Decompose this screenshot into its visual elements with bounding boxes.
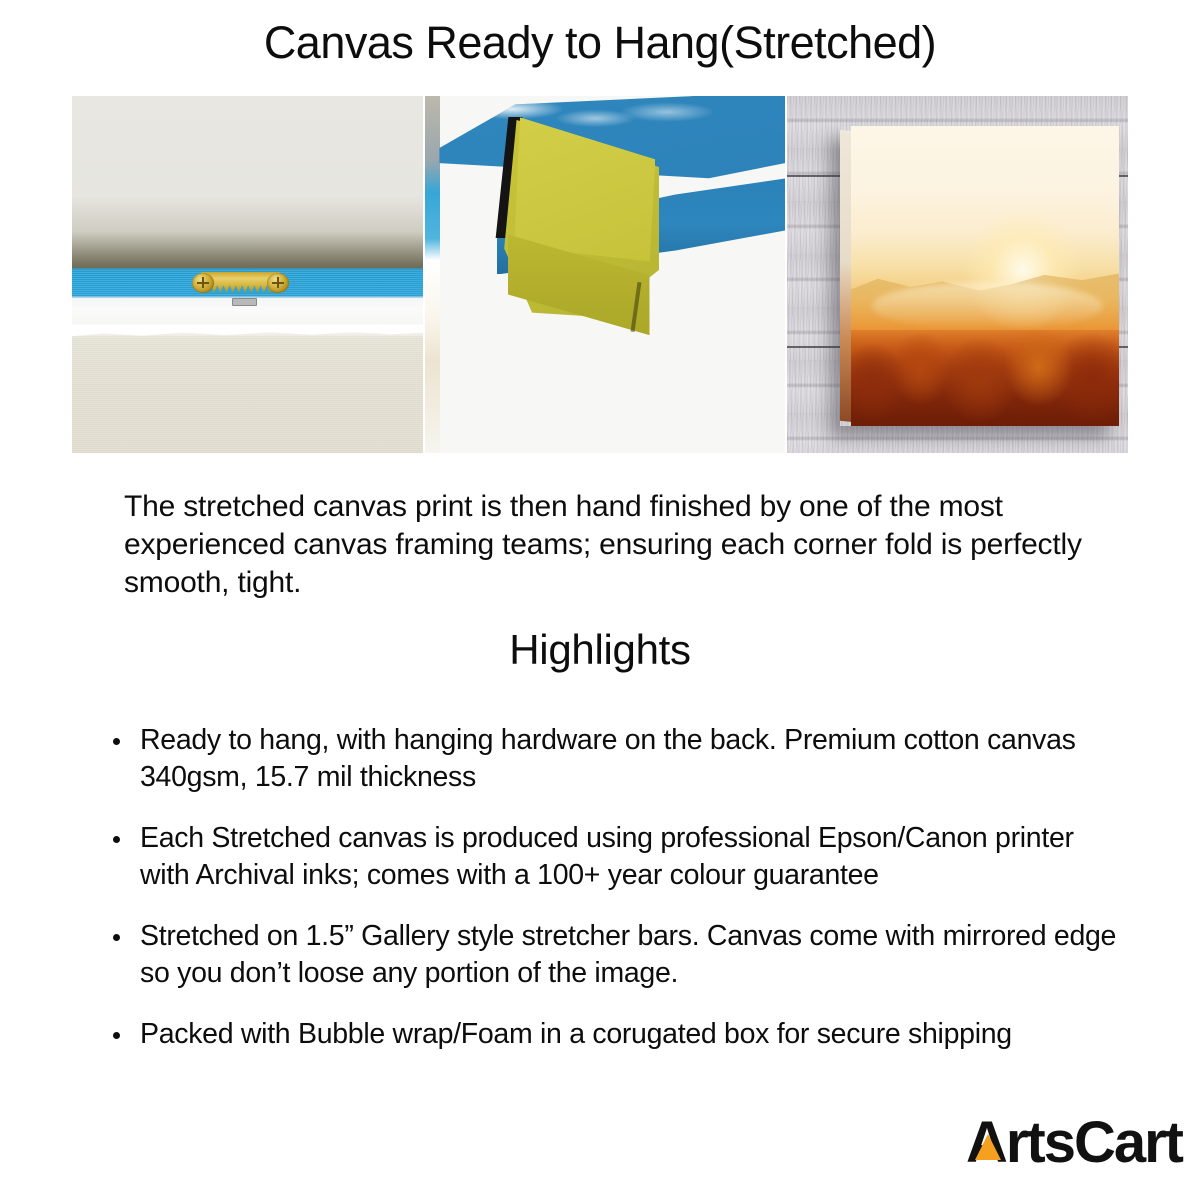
adjacent-image-sliver: [425, 96, 440, 453]
list-item-text: Each Stretched canvas is produced using …: [140, 822, 1074, 891]
landscape-foliage: [851, 330, 1119, 426]
triangle-icon: [975, 1134, 1001, 1160]
landscape-mist: [872, 282, 1103, 330]
bullet-dot-icon: [113, 836, 120, 843]
list-item: Ready to hang, with hanging hardware on …: [108, 722, 1118, 796]
metal-clip-icon: [232, 298, 257, 306]
sawtooth-hanger-hardware: [190, 270, 292, 297]
canvas-print-sunset-landscape: [851, 126, 1119, 426]
canvas-weave-texture: [72, 335, 423, 453]
product-image-gallery: [72, 96, 1128, 453]
highlights-list: Ready to hang, with hanging hardware on …: [108, 722, 1118, 1053]
hanger-screw-right-icon: [267, 273, 289, 293]
hanging-stretched-canvas: [840, 126, 1120, 426]
highlights-heading: Highlights: [0, 624, 1200, 676]
hanger-screw-left-icon: [192, 273, 214, 293]
gallery-image-canvas-back-hanging-hardware: [72, 96, 423, 453]
list-item-text: Ready to hang, with hanging hardware on …: [140, 724, 1076, 793]
list-item: Each Stretched canvas is produced using …: [108, 820, 1118, 894]
list-item-text: Packed with Bubble wrap/Foam in a coruga…: [140, 1018, 1012, 1050]
page-title: Canvas Ready to Hang(Stretched): [0, 16, 1200, 70]
bullet-dot-icon: [113, 738, 120, 745]
canvas-wrapped-side-edge: [840, 129, 852, 421]
list-item: Stretched on 1.5” Gallery style stretche…: [108, 918, 1118, 992]
gallery-image-canvas-corner-fold: [425, 96, 785, 453]
list-item: Packed with Bubble wrap/Foam in a coruga…: [108, 1016, 1118, 1053]
list-item-text: Stretched on 1.5” Gallery style stretche…: [140, 920, 1116, 989]
brand-logo: ArtsCart: [966, 1112, 1182, 1174]
intro-paragraph: The stretched canvas print is then hand …: [124, 488, 1084, 602]
bullet-dot-icon: [113, 1032, 120, 1039]
gallery-image-canvas-hanging-on-wall: [787, 96, 1128, 453]
bullet-dot-icon: [113, 934, 120, 941]
